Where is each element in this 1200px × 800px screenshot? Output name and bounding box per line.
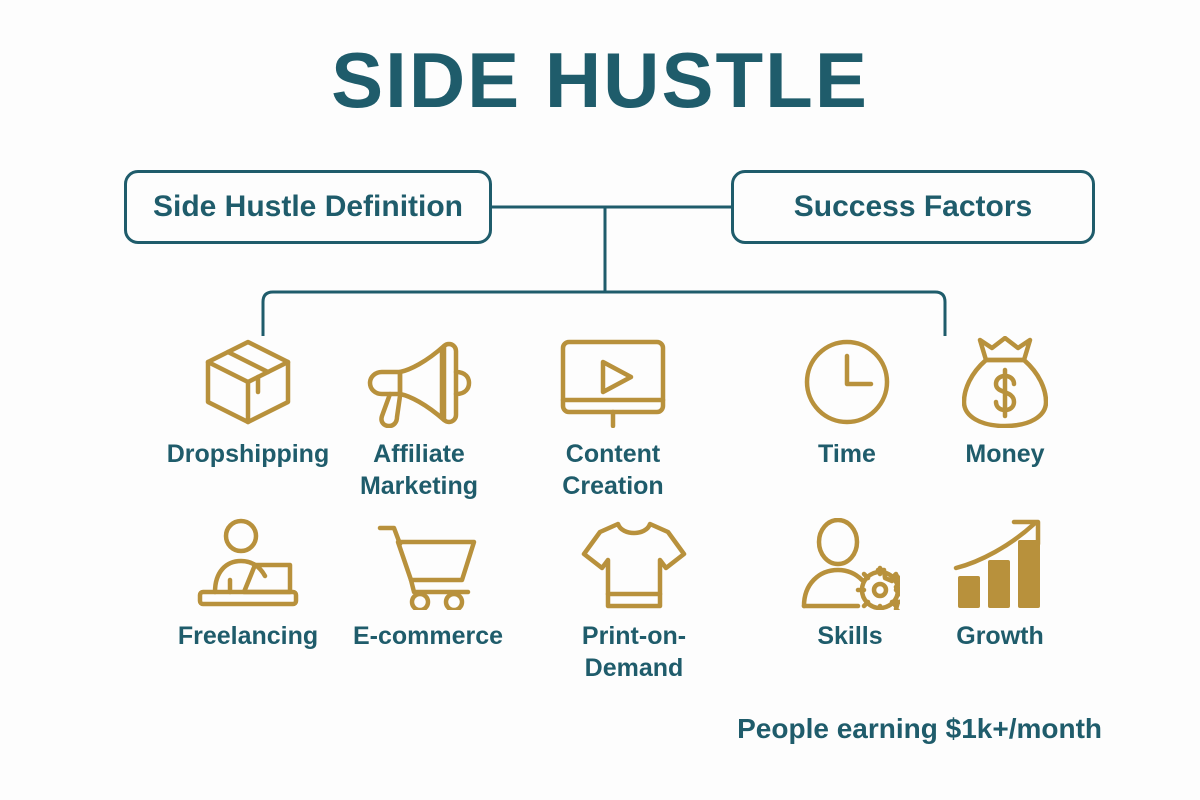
infographic-canvas: SIDE HUSTLE Side Hustle Definition Succe… xyxy=(0,0,1200,800)
item-label: Print-on-Demand xyxy=(539,620,729,684)
item-freelancing[interactable]: Freelancing xyxy=(153,518,343,652)
item-print-on-demand[interactable]: Print-on-Demand xyxy=(539,518,729,684)
t-shirt-icon xyxy=(580,518,688,610)
shopping-cart-icon xyxy=(376,518,480,610)
person-laptop-icon xyxy=(192,518,304,610)
node-success-factors[interactable]: Success Factors xyxy=(731,170,1095,244)
footnote-caption: People earning $1k+/month xyxy=(737,713,1102,745)
item-label: Money xyxy=(965,438,1044,470)
item-label: Growth xyxy=(956,620,1044,652)
money-bag-icon xyxy=(962,336,1048,428)
item-affiliate-marketing[interactable]: Affiliate Marketing xyxy=(324,336,514,502)
item-e-commerce[interactable]: E-commerce xyxy=(333,518,523,652)
page-title: SIDE HUSTLE xyxy=(0,38,1200,124)
item-label: Freelancing xyxy=(178,620,318,652)
item-content-creation[interactable]: Content Creation xyxy=(518,336,708,502)
item-dropshipping[interactable]: Dropshipping xyxy=(153,336,343,470)
item-money[interactable]: Money xyxy=(910,336,1100,470)
box-package-icon xyxy=(200,336,296,428)
item-label: Content Creation xyxy=(562,438,663,502)
growth-chart-icon xyxy=(952,518,1048,610)
item-label: Dropshipping xyxy=(167,438,329,470)
person-gear-icon xyxy=(800,518,900,610)
node-label: Side Hustle Definition xyxy=(153,190,463,224)
item-label: Affiliate Marketing xyxy=(360,438,478,502)
node-side-hustle-definition[interactable]: Side Hustle Definition xyxy=(124,170,492,244)
node-label: Success Factors xyxy=(794,190,1032,224)
video-player-icon xyxy=(557,336,669,428)
megaphone-icon xyxy=(366,336,472,428)
item-label: E-commerce xyxy=(353,620,503,652)
clock-icon xyxy=(801,336,893,428)
item-label: Skills xyxy=(817,620,882,652)
item-growth[interactable]: Growth xyxy=(905,518,1095,652)
item-label: Time xyxy=(818,438,876,470)
